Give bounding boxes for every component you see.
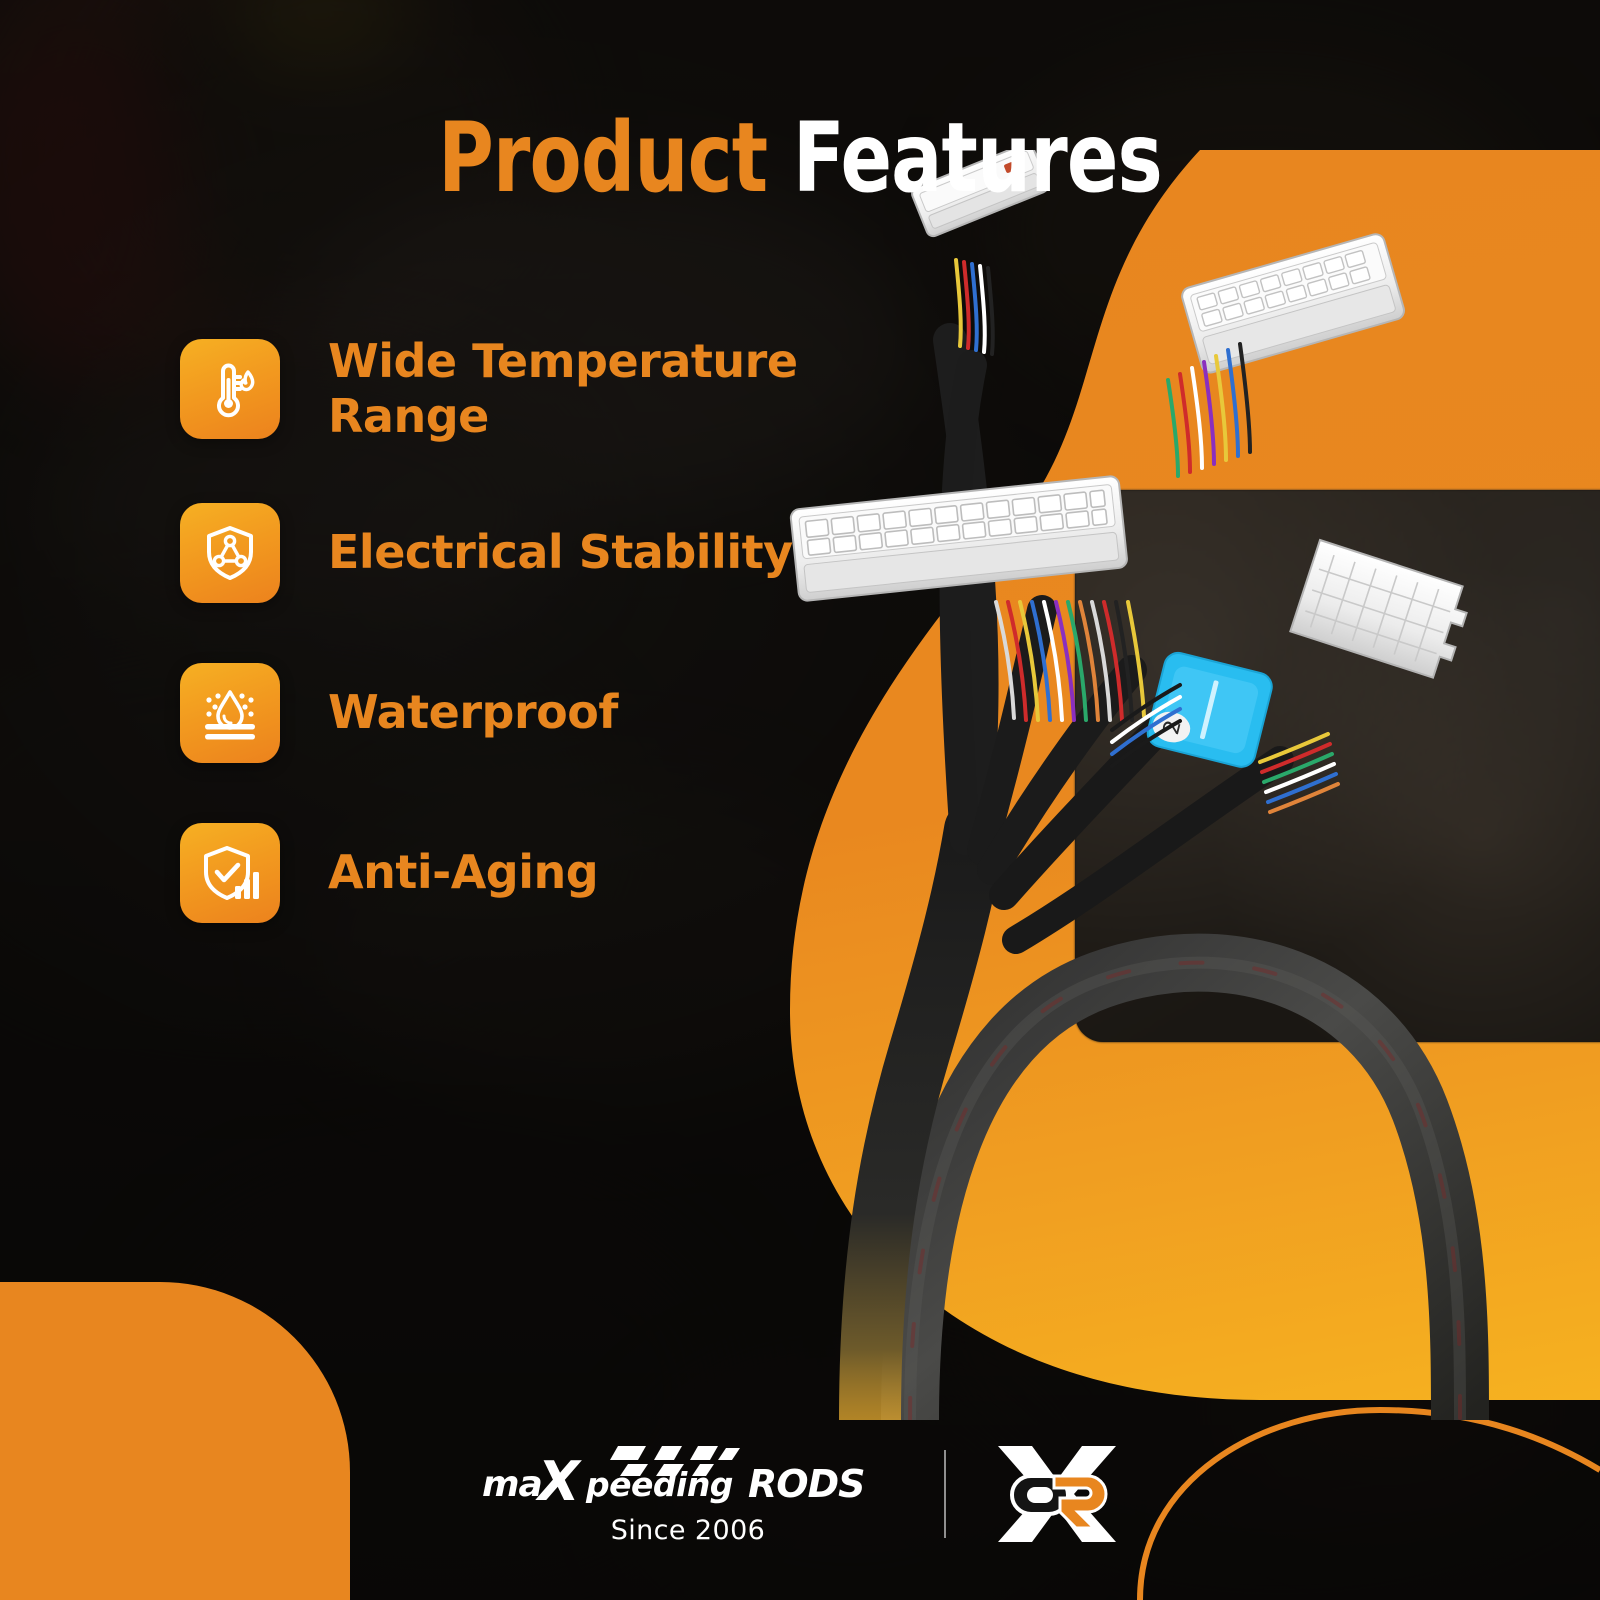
footer: ma X peeding RODS Since 2006: [0, 1440, 1600, 1548]
feature-label: Anti-Aging: [328, 845, 598, 900]
product-features-graphic: 2: [0, 0, 1600, 1600]
svg-text:X: X: [535, 1450, 582, 1508]
dark-notch-panel: [1075, 490, 1600, 1042]
maxpeedingrods-logo: ma X peeding RODS Since 2006: [478, 1442, 898, 1546]
brand-since-text: Since 2006: [611, 1515, 766, 1546]
svg-text:ma: ma: [482, 1464, 542, 1505]
title-part-features: Features: [793, 102, 1162, 214]
feature-label: Electrical Stability: [328, 525, 793, 580]
feature-label: Wide Temperature Range: [328, 334, 808, 444]
feature-item-electrical-stability: Electrical Stability: [180, 503, 840, 603]
feature-item-wide-temperature-range: Wide Temperature Range: [180, 335, 840, 443]
svg-text:RODS: RODS: [748, 1462, 864, 1506]
brand-wordmark: ma X peeding RODS: [478, 1442, 898, 1508]
feature-list: Wide Temperature Range Electrical Stabil…: [180, 335, 840, 983]
feature-label: Waterproof: [328, 685, 618, 740]
thermometer-flame-icon: [180, 339, 280, 439]
title-part-product: Product: [438, 102, 767, 214]
notch-photo: [1075, 490, 1600, 1042]
page-title: Product Features: [96, 110, 1504, 208]
footer-divider: [944, 1450, 946, 1538]
feature-item-anti-aging: Anti-Aging: [180, 823, 840, 923]
feature-item-waterproof: Waterproof: [180, 663, 840, 763]
shield-network-icon: [180, 503, 280, 603]
waterproof-droplet-icon: [180, 663, 280, 763]
shield-check-chart-icon: [180, 823, 280, 923]
xqr-logo: [992, 1440, 1122, 1548]
svg-text:peeding: peeding: [585, 1465, 733, 1504]
